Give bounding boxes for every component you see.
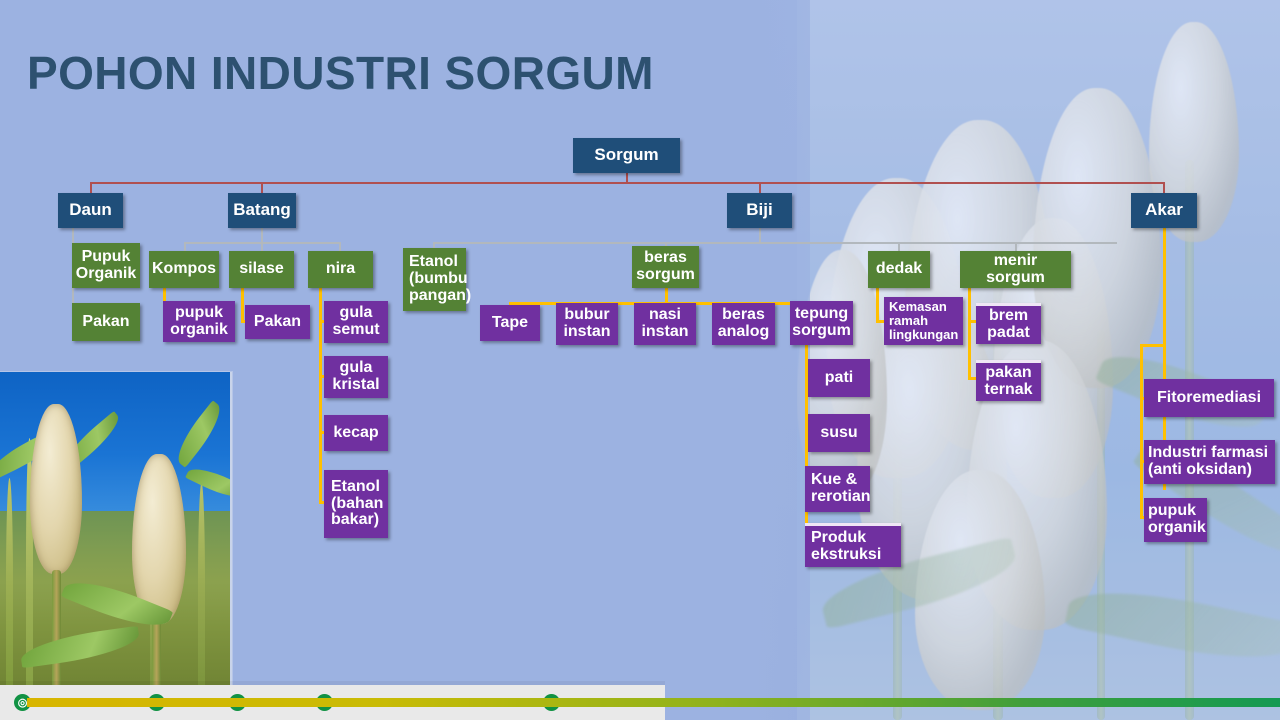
node-kue-rerotian[interactable]: Kue & rerotian xyxy=(805,466,870,512)
node-kecap[interactable]: kecap xyxy=(324,415,388,451)
node-etanol-bumbu-pangan[interactable]: Etanol (bumbu pangan) xyxy=(403,248,466,311)
node-pupuk-organik-akar[interactable]: pupuk organik xyxy=(1144,498,1207,542)
footer-accent-bar xyxy=(27,698,1280,707)
node-kompos[interactable]: Kompos xyxy=(149,251,219,288)
node-menir-sorgum[interactable]: menir sorgum xyxy=(960,251,1071,288)
node-biji[interactable]: Biji xyxy=(727,193,792,228)
node-etanol-bahan-bakar[interactable]: Etanol (bahan bakar) xyxy=(324,470,388,538)
inset-stem xyxy=(52,570,61,688)
inset-grass xyxy=(198,483,205,688)
node-akar[interactable]: Akar xyxy=(1131,193,1197,228)
page-title: POHON INDUSTRI SORGUM xyxy=(27,46,654,100)
node-sorgum[interactable]: Sorgum xyxy=(573,138,680,173)
connector-akar-spine xyxy=(1140,344,1143,518)
node-gula-semut[interactable]: gula semut xyxy=(324,301,388,343)
connector-dedak-spine xyxy=(876,288,879,323)
node-kemasan-ramah-lingkungan[interactable]: Kemasan ramah lingkungan xyxy=(884,297,963,345)
node-dedak[interactable]: dedak xyxy=(868,251,930,288)
slide-canvas: POHON INDUSTRI SORGUM xyxy=(0,0,1280,720)
node-beras-analog[interactable]: beras analog xyxy=(712,303,775,345)
connector-menir-spine xyxy=(968,288,971,380)
node-fitoremediasi[interactable]: Fitoremediasi xyxy=(1144,379,1274,417)
node-nasi-instan[interactable]: nasi instan xyxy=(634,303,696,345)
node-industri-farmasi[interactable]: Industri farmasi (anti oksidan) xyxy=(1144,440,1275,484)
connector-to-akar xyxy=(1163,182,1165,193)
node-pupuk-organik-daun[interactable]: Pupuk Organik xyxy=(72,243,140,288)
connector-to-batang xyxy=(261,182,263,193)
connector-to-biji xyxy=(759,182,761,193)
node-tepung-sorgum[interactable]: tepung sorgum xyxy=(790,301,853,345)
node-susu[interactable]: susu xyxy=(808,414,870,452)
node-gula-kristal[interactable]: gula kristal xyxy=(324,356,388,398)
node-produk-ekstruksi[interactable]: Produk ekstruksi xyxy=(805,523,901,567)
node-pakan-silase[interactable]: Pakan xyxy=(245,305,310,339)
inset-stem xyxy=(152,620,161,688)
node-batang[interactable]: Batang xyxy=(228,193,296,228)
node-tape[interactable]: Tape xyxy=(480,305,540,341)
connector-to-daun xyxy=(90,182,92,193)
node-pupuk-organik-kompos[interactable]: pupuk organik xyxy=(163,301,235,342)
connector-root-bus xyxy=(90,182,1165,184)
node-nira[interactable]: nira xyxy=(308,251,373,288)
node-brem-padat[interactable]: brem padat xyxy=(976,303,1041,344)
node-bubur-instan[interactable]: bubur instan xyxy=(556,303,618,345)
node-silase[interactable]: silase xyxy=(229,251,294,288)
node-pakan-daun[interactable]: Pakan xyxy=(72,303,140,341)
node-beras-sorgum[interactable]: beras sorgum xyxy=(632,246,699,288)
connector-silase-spine xyxy=(241,288,244,322)
inset-sorghum-photo xyxy=(0,372,232,688)
inset-grass xyxy=(6,478,13,688)
inset-panicle xyxy=(30,404,82,574)
node-pati[interactable]: pati xyxy=(808,359,870,397)
node-daun[interactable]: Daun xyxy=(58,193,123,228)
node-pakan-ternak[interactable]: pakan ternak xyxy=(976,360,1041,401)
connector-akar-elbow-top xyxy=(1140,344,1166,347)
